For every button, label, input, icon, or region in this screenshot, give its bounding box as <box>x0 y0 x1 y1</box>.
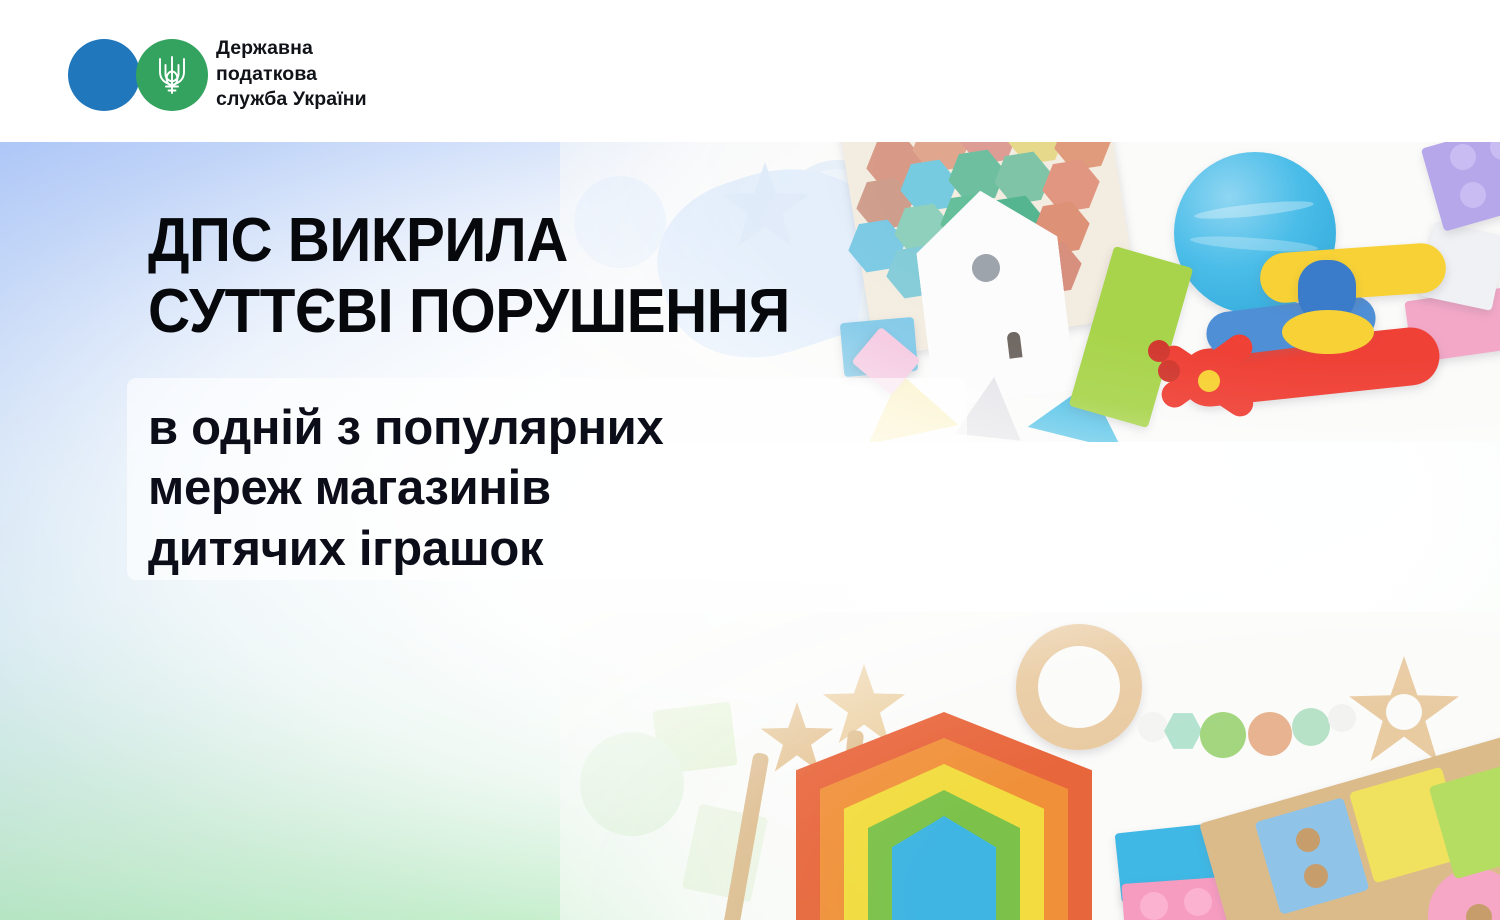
airplane-propeller-hub <box>1198 370 1220 392</box>
logo-blue-circle-icon <box>68 39 140 111</box>
brand-lockup[interactable]: Державна податкова служба України <box>68 36 367 113</box>
brand-name-line-3: служба України <box>216 87 367 113</box>
toy-photo-bottom-right <box>560 612 1500 920</box>
page-subtitle: в одній з популярних мереж магазинів дит… <box>148 398 968 579</box>
star-teether-hole <box>1386 694 1422 730</box>
bead-mint <box>1292 708 1330 746</box>
bead-white <box>1328 704 1356 732</box>
airplane-cockpit <box>1282 310 1374 354</box>
brand-name-line-1: Державна <box>216 36 367 62</box>
brand-name: Державна податкова служба України <box>216 36 367 113</box>
logo-green-circle-icon <box>136 39 208 111</box>
lego-stud-icon <box>1184 888 1212 916</box>
airplane-wheel <box>1148 340 1170 362</box>
airplane-wheel <box>1158 360 1180 382</box>
ghost-circle-icon <box>580 732 684 836</box>
peg-dot-icon <box>1296 828 1320 852</box>
wooden-teething-ring <box>1016 624 1142 750</box>
bead-peach <box>1248 712 1292 756</box>
page-title: ДПС ВИКРИЛА СУТТЄВІ ПОРУШЕННЯ <box>148 206 790 347</box>
lego-stud-icon <box>1140 892 1168 920</box>
ukraine-trident-icon <box>155 54 189 96</box>
poster-canvas: ДПС ВИКРИЛА СУТТЄВІ ПОРУШЕННЯ в одній з … <box>0 0 1500 920</box>
peg-dot-icon <box>1304 864 1328 888</box>
logo-mark <box>68 39 208 111</box>
bead-white <box>1138 712 1168 742</box>
header-bar: Державна податкова служба України <box>0 0 1500 142</box>
bead-green-crochet <box>1200 712 1246 758</box>
brand-name-line-2: податкова <box>216 62 367 88</box>
